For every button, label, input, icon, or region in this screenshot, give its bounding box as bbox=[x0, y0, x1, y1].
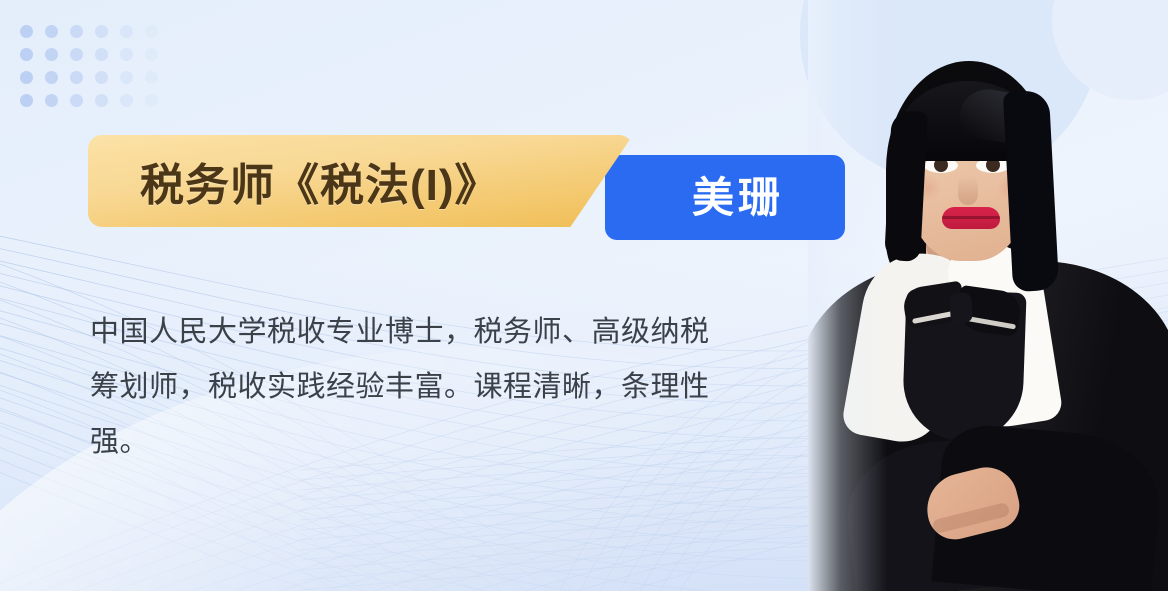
title-row: 美珊 税务师《税法(I)》 bbox=[88, 135, 768, 245]
instructor-name-badge: 美珊 bbox=[605, 155, 845, 240]
course-title-plate: 税务师《税法(I)》 bbox=[88, 135, 633, 227]
grid-dot bbox=[120, 71, 133, 84]
instructor-photo bbox=[808, 0, 1168, 591]
grid-dot bbox=[20, 71, 33, 84]
grid-dot bbox=[95, 48, 108, 61]
grid-dot bbox=[95, 71, 108, 84]
instructor-name-text: 美珊 bbox=[666, 177, 784, 219]
grid-dot bbox=[45, 94, 58, 107]
grid-dot bbox=[70, 48, 83, 61]
grid-dot bbox=[20, 94, 33, 107]
grid-dot bbox=[70, 25, 83, 38]
grid-dot bbox=[45, 48, 58, 61]
grid-dot bbox=[20, 25, 33, 38]
grid-dot bbox=[145, 71, 158, 84]
grid-dot bbox=[95, 25, 108, 38]
course-promo-banner: 美珊 税务师《税法(I)》 中国人民大学税收专业博士，税务师、高级纳税筹划师，税… bbox=[0, 0, 1168, 591]
grid-dot bbox=[45, 71, 58, 84]
grid-dot bbox=[120, 25, 133, 38]
grid-dot bbox=[120, 48, 133, 61]
grid-dot bbox=[70, 94, 83, 107]
grid-dot bbox=[45, 25, 58, 38]
grid-dot bbox=[145, 94, 158, 107]
course-title-text: 税务师《税法(I)》 bbox=[88, 149, 500, 213]
grid-dot bbox=[145, 48, 158, 61]
dot-grid-decoration bbox=[20, 25, 170, 117]
grid-dot bbox=[145, 25, 158, 38]
grid-dot bbox=[20, 48, 33, 61]
photo-edge-fade bbox=[808, 0, 1168, 591]
instructor-description: 中国人民大学税收专业博士，税务师、高级纳税筹划师，税收实践经验丰富。课程清晰，条… bbox=[90, 305, 730, 470]
grid-dot bbox=[120, 94, 133, 107]
grid-dot bbox=[95, 94, 108, 107]
grid-dot bbox=[70, 71, 83, 84]
